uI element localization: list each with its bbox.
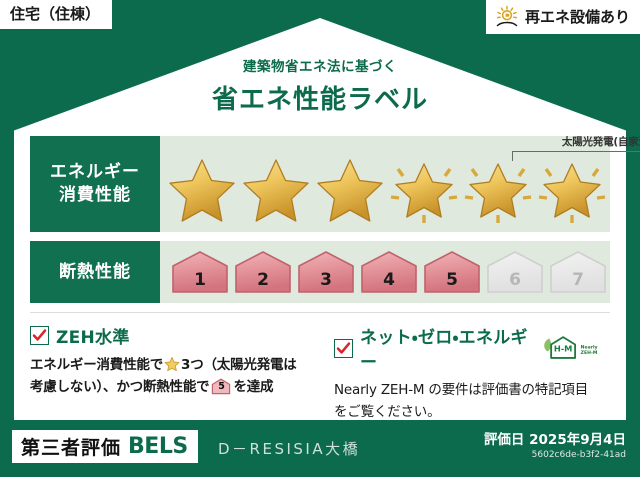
house-badge-number: 5 bbox=[211, 379, 231, 394]
metric-label-energy-line2: 消費性能 bbox=[59, 184, 131, 207]
house-badge-inline: 5 bbox=[211, 378, 231, 395]
metric-row-energy: エネルギー 消費性能 太陽光発電(自家消費)分 bbox=[30, 136, 610, 232]
metric-label-insulation-text: 断熱性能 bbox=[59, 261, 131, 284]
star-filled bbox=[166, 153, 238, 225]
metric-body-energy: 太陽光発電(自家消費)分 bbox=[160, 136, 610, 232]
svg-text:ZEH-M: ZEH-M bbox=[580, 350, 597, 356]
criteria-zeh-description: エネルギー消費性能で3つ（太陽光発電は考慮しない）、かつ断熱性能で5を達成 bbox=[30, 355, 308, 399]
metric-body-insulation: 1 2 3 4 5 bbox=[160, 241, 610, 303]
checkbox-checked-icon bbox=[334, 339, 353, 358]
property-name: D－RESISIA大橋 bbox=[218, 438, 360, 459]
criteria-zeh-text-a: エネルギー消費性能で bbox=[30, 357, 163, 373]
criteria-nze-title: ネット・ゼロ・エネルギー bbox=[360, 323, 531, 373]
metric-row-insulation: 断熱性能 1 2 bbox=[30, 241, 610, 303]
bels-en-label: BELS bbox=[128, 434, 188, 459]
metric-label-energy-line1: エネルギー bbox=[50, 161, 140, 184]
solar-generation-note: 太陽光発電(自家消費)分 bbox=[512, 134, 640, 149]
badge-renewable-equipment: 再エネ設備あり bbox=[486, 0, 640, 34]
energy-star-rating bbox=[166, 143, 608, 225]
evaluation-info: 評価日 2025年9月4日 5602c6de-b3f2-41ad bbox=[484, 428, 626, 460]
criteria-zeh-header: ZEH水準 bbox=[30, 323, 308, 348]
star-filled bbox=[314, 153, 386, 225]
star-filled-solar bbox=[388, 153, 460, 225]
house-level-on: 4 bbox=[359, 249, 419, 295]
insulation-level-scale: 1 2 3 4 5 bbox=[170, 249, 608, 295]
badge-house-type: 住宅（住棟） bbox=[0, 0, 112, 29]
sun-icon bbox=[494, 5, 520, 29]
house-level-off: 7 bbox=[548, 249, 608, 295]
bels-jp-label: 第三者評価 bbox=[21, 433, 121, 460]
criteria-zeh-title: ZEH水準 bbox=[56, 323, 130, 348]
house-level-on: 5 bbox=[422, 249, 482, 295]
metric-label-energy: エネルギー 消費性能 bbox=[30, 136, 160, 232]
criteria-zeh-text-c: を達成 bbox=[233, 379, 273, 395]
criteria-nze-header: ネット・ゼロ・エネルギー H-M Nearly ZEH-M bbox=[334, 323, 598, 373]
footer-bar: 第三者評価 BELS D－RESISIA大橋 評価日 2025年9月4日 560… bbox=[0, 420, 640, 477]
title-main: 省エネ性能ラベル bbox=[0, 79, 640, 116]
house-level-on: 3 bbox=[296, 249, 356, 295]
svg-text:Nearly: Nearly bbox=[580, 345, 597, 351]
evaluation-date: 評価日 2025年9月4日 bbox=[484, 428, 626, 448]
star-filled-solar bbox=[536, 153, 608, 225]
house-level-on: 1 bbox=[170, 249, 230, 295]
criteria-zeh-standard: ZEH水準 エネルギー消費性能で3つ（太陽光発電は考慮しない）、かつ断熱性能で5… bbox=[30, 323, 320, 423]
svg-text:H-M: H-M bbox=[554, 343, 573, 353]
metric-label-insulation: 断熱性能 bbox=[30, 241, 160, 303]
criteria-section: ZEH水準 エネルギー消費性能で3つ（太陽光発電は考慮しない）、かつ断熱性能で5… bbox=[30, 312, 610, 423]
bels-certification-badge: 第三者評価 BELS bbox=[12, 430, 198, 463]
criteria-net-zero-energy: ネット・ゼロ・エネルギー H-M Nearly ZEH-M Nearly ZEH… bbox=[320, 323, 610, 423]
title-subtitle: 建築物省エネ法に基づく bbox=[0, 55, 640, 75]
title-block: 建築物省エネ法に基づく 省エネ性能ラベル bbox=[0, 55, 640, 116]
evaluation-id: 5602c6de-b3f2-41ad bbox=[484, 450, 626, 460]
house-level-off: 6 bbox=[485, 249, 545, 295]
star-filled bbox=[240, 153, 312, 225]
star-filled-solar bbox=[462, 153, 534, 225]
checkbox-checked-icon bbox=[30, 326, 49, 345]
zeh-m-logo: H-M Nearly ZEH-M bbox=[541, 333, 598, 363]
house-level-on: 2 bbox=[233, 249, 293, 295]
criteria-nze-description: Nearly ZEH-M の要件は評価書の特記項目をご覧ください。 bbox=[334, 380, 598, 423]
badge-renewable-label: 再エネ設備あり bbox=[525, 9, 630, 26]
star-icon-inline bbox=[164, 356, 180, 372]
label-content: エネルギー 消費性能 太陽光発電(自家消費)分 bbox=[30, 136, 610, 423]
